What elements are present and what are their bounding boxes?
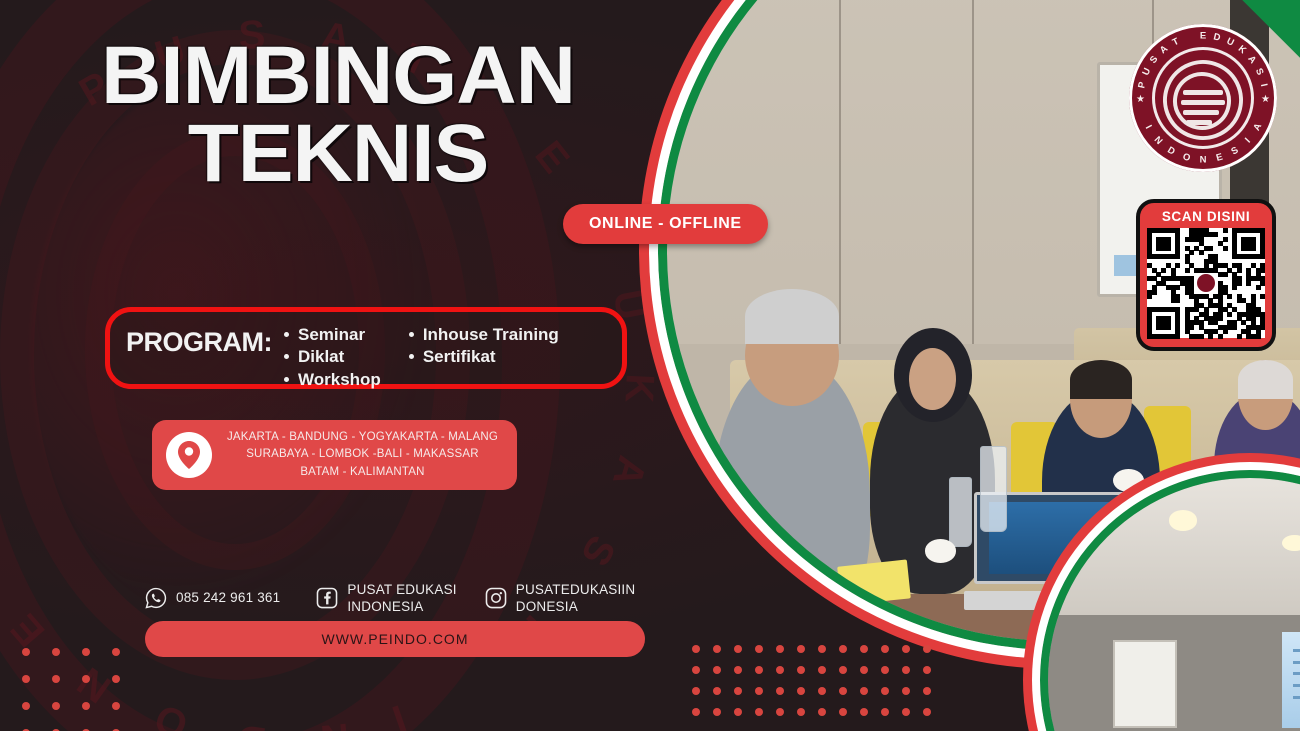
whatsapp-contact[interactable]: 085 242 961 361 [145, 587, 280, 609]
instagram-icon [485, 587, 507, 609]
program-column-1: Seminar Diklat Workshop [284, 324, 381, 391]
mode-badge: ONLINE - OFFLINE [563, 204, 768, 244]
location-line: JAKARTA - BANDUNG - YOGYAKARTA - MALANG [222, 429, 503, 446]
website-bar[interactable]: WWW.PEINDO.COM [145, 621, 645, 657]
program-column-2: Inhouse Training Sertifikat [409, 324, 559, 391]
facebook-icon [316, 587, 338, 609]
dot-grid-bottom-left [0, 648, 142, 731]
qr-center-logo [1192, 269, 1220, 297]
facebook-line-1: PUSAT EDUKASI [347, 582, 456, 597]
program-item: Inhouse Training [409, 324, 559, 346]
dot-grid-bottom-center [692, 645, 944, 729]
locations-text: JAKARTA - BANDUNG - YOGYAKARTA - MALANG … [222, 429, 503, 481]
promo-banner: PUSAT EDUKASI INDONESIA [0, 0, 1300, 731]
brand-logo-icon: PUSAT EDUKASI INDONESIA ★ ★ [1129, 24, 1277, 172]
website-url: WWW.PEINDO.COM [322, 631, 469, 647]
instagram-contact[interactable]: PUSATEDUKASIIN DONESIA [485, 581, 636, 616]
headline-line-2: TEKNIS [0, 116, 683, 192]
program-item: Diklat [284, 346, 381, 368]
location-pin-icon [166, 432, 212, 478]
instagram-name: PUSATEDUKASIIN DONESIA [516, 581, 636, 616]
facebook-line-2: INDONESIA [347, 599, 423, 614]
whatsapp-icon [145, 587, 167, 609]
qr-title: SCAN DISINI [1162, 209, 1250, 224]
facebook-contact[interactable]: PUSAT EDUKASI INDONESIA [316, 581, 456, 616]
location-line: SURABAYA - LOMBOK -BALI - MAKASSAR [222, 446, 503, 463]
program-item: Sertifikat [409, 346, 559, 368]
location-line: BATAM - KALIMANTAN [222, 464, 503, 481]
qr-code-icon[interactable] [1147, 228, 1265, 338]
qr-panel[interactable]: SCAN DISINI [1136, 199, 1276, 351]
page-title: BIMBINGAN TEKNIS [0, 38, 676, 193]
program-item: Seminar [284, 324, 381, 346]
locations-box: JAKARTA - BANDUNG - YOGYAKARTA - MALANG … [152, 420, 517, 490]
instagram-line-2: DONESIA [516, 599, 578, 614]
program-label: PROGRAM: [126, 327, 272, 358]
instagram-line-1: PUSATEDUKASIIN [516, 582, 636, 597]
facebook-name: PUSAT EDUKASI INDONESIA [347, 581, 456, 616]
whatsapp-number: 085 242 961 361 [176, 589, 280, 606]
contact-row: 085 242 961 361 PUSAT EDUKASI INDONESIA [145, 575, 665, 621]
program-box: PROGRAM: Seminar Diklat Workshop Inhouse… [105, 307, 627, 389]
training-class-photo [1040, 470, 1300, 731]
program-item: Workshop [284, 369, 381, 391]
headline-line-1: BIMBINGAN [0, 38, 683, 114]
